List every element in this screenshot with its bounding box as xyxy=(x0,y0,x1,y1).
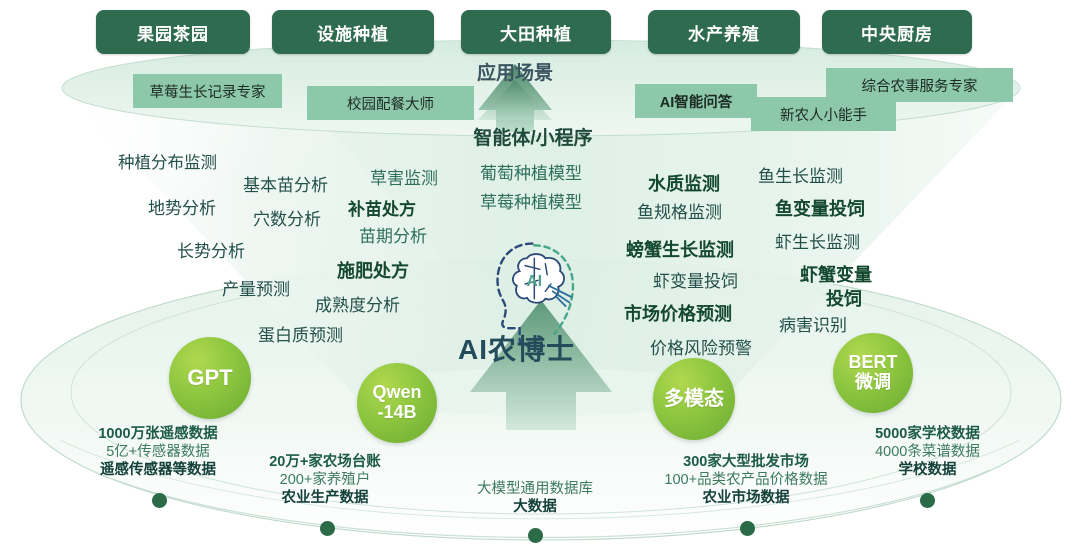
data-source-line: 5000家学校数据 xyxy=(820,425,1035,443)
data-source-dot-3 xyxy=(740,521,755,536)
data-source-block-4: 5000家学校数据 4000条菜谱数据 学校数据 xyxy=(820,425,1035,479)
model-label-line: GPT xyxy=(187,366,232,390)
agent-tag-label: AI智能问答 xyxy=(660,91,733,112)
infographic-canvas: AI 果园茶园 设施种植 大田种植 水产养殖 中央厨房 草莓生长记录专家 校园配… xyxy=(0,0,1082,545)
model-circle-gpt[interactable]: GPT xyxy=(169,337,251,419)
capability-word: 市场价格预测 xyxy=(624,305,732,323)
agent-tag-4[interactable]: 综合农事服务专家 xyxy=(826,68,1013,102)
agent-tag-3[interactable]: 新农人小能手 xyxy=(751,97,896,131)
capability-word: 草害监测 xyxy=(370,170,438,187)
scenario-label: 大田种植 xyxy=(500,20,572,45)
capability-word: 地势分析 xyxy=(148,200,216,217)
capability-word: 种植分布监测 xyxy=(118,155,217,172)
agent-tag-label: 新农人小能手 xyxy=(780,104,867,125)
capability-word: 虾生长监测 xyxy=(775,234,860,251)
scenario-button-4[interactable]: 中央厨房 xyxy=(822,10,972,54)
page-title: AI农博士 xyxy=(458,328,575,368)
agent-tag-2[interactable]: AI智能问答 xyxy=(635,84,757,118)
capability-word: 价格风险预警 xyxy=(650,340,752,357)
data-source-dot-1 xyxy=(320,521,335,536)
scenario-button-1[interactable]: 设施种植 xyxy=(272,10,434,54)
svg-text:AI: AI xyxy=(527,273,543,290)
capability-word: 苗期分析 xyxy=(359,228,427,245)
data-source-line: 农业市场数据 xyxy=(615,489,877,507)
capability-word: 草莓种植模型 xyxy=(480,194,582,211)
data-source-line: 20万+家农场台账 xyxy=(205,453,445,471)
capability-word: 虾蟹变量 xyxy=(800,266,872,284)
scenario-label: 设施种植 xyxy=(317,20,389,45)
scenario-label: 水产养殖 xyxy=(688,20,760,45)
capability-word: 施肥处方 xyxy=(337,262,409,280)
capability-word: 长势分析 xyxy=(177,243,245,260)
agent-tag-label: 综合农事服务专家 xyxy=(862,75,978,96)
model-label-line: 微调 xyxy=(855,373,891,393)
model-circle-multimodal[interactable]: 多模态 xyxy=(653,358,735,440)
scenario-button-0[interactable]: 果园茶园 xyxy=(96,10,250,54)
data-source-line: 4000条菜谱数据 xyxy=(820,443,1035,461)
data-source-dot-0 xyxy=(152,493,167,508)
capability-word: 螃蟹生长监测 xyxy=(626,241,734,259)
scenario-label: 果园茶园 xyxy=(137,20,209,45)
application-scene-label: 应用场景 xyxy=(455,58,575,85)
agent-miniprogram-label: 智能体/小程序 xyxy=(448,123,618,150)
capability-word: 穴数分析 xyxy=(253,211,321,228)
capability-word: 葡萄种植模型 xyxy=(480,165,582,182)
scenario-button-3[interactable]: 水产养殖 xyxy=(648,10,800,54)
data-source-line: 200+家养殖户 xyxy=(205,471,445,489)
scenario-button-2[interactable]: 大田种植 xyxy=(461,10,611,54)
data-source-line: 学校数据 xyxy=(820,461,1035,479)
data-source-line: 1000万张遥感数据 xyxy=(33,425,283,443)
model-label-line: -14B xyxy=(377,403,416,423)
data-source-dot-4 xyxy=(920,493,935,508)
capability-word: 鱼规格监测 xyxy=(637,204,722,221)
model-circle-qwen[interactable]: Qwen -14B xyxy=(357,363,437,443)
capability-word: 补苗处方 xyxy=(348,201,416,218)
capability-word: 蛋白质预测 xyxy=(258,327,343,344)
agent-tag-label: 校园配餐大师 xyxy=(347,93,434,114)
model-label-line: Qwen xyxy=(372,383,421,403)
capability-word: 虾变量投饲 xyxy=(653,273,738,290)
agent-tag-label: 草莓生长记录专家 xyxy=(150,81,266,102)
capability-word: 鱼生长监测 xyxy=(758,168,843,185)
model-label-line: BERT xyxy=(849,353,898,373)
agent-tag-1[interactable]: 校园配餐大师 xyxy=(307,86,474,120)
capability-word: 病害识别 xyxy=(779,317,847,334)
data-source-block-1: 20万+家农场台账 200+家养殖户 农业生产数据 xyxy=(205,453,445,507)
model-circle-bert[interactable]: BERT 微调 xyxy=(833,333,913,413)
scenario-label: 中央厨房 xyxy=(861,20,933,45)
agent-tag-0[interactable]: 草莓生长记录专家 xyxy=(133,74,282,108)
scenario-button-row: 果园茶园 设施种植 大田种植 水产养殖 中央厨房 xyxy=(0,10,1082,58)
capability-word: 投饲 xyxy=(826,290,862,308)
capability-word: 产量预测 xyxy=(222,281,290,298)
capability-word: 水质监测 xyxy=(648,175,720,193)
model-label-line: 多模态 xyxy=(664,388,724,410)
capability-word: 鱼变量投饲 xyxy=(775,200,865,218)
capability-word: 基本苗分析 xyxy=(243,177,328,194)
data-source-dot-2 xyxy=(528,528,543,543)
capability-word: 成熟度分析 xyxy=(315,297,400,314)
data-source-line: 农业生产数据 xyxy=(205,489,445,507)
